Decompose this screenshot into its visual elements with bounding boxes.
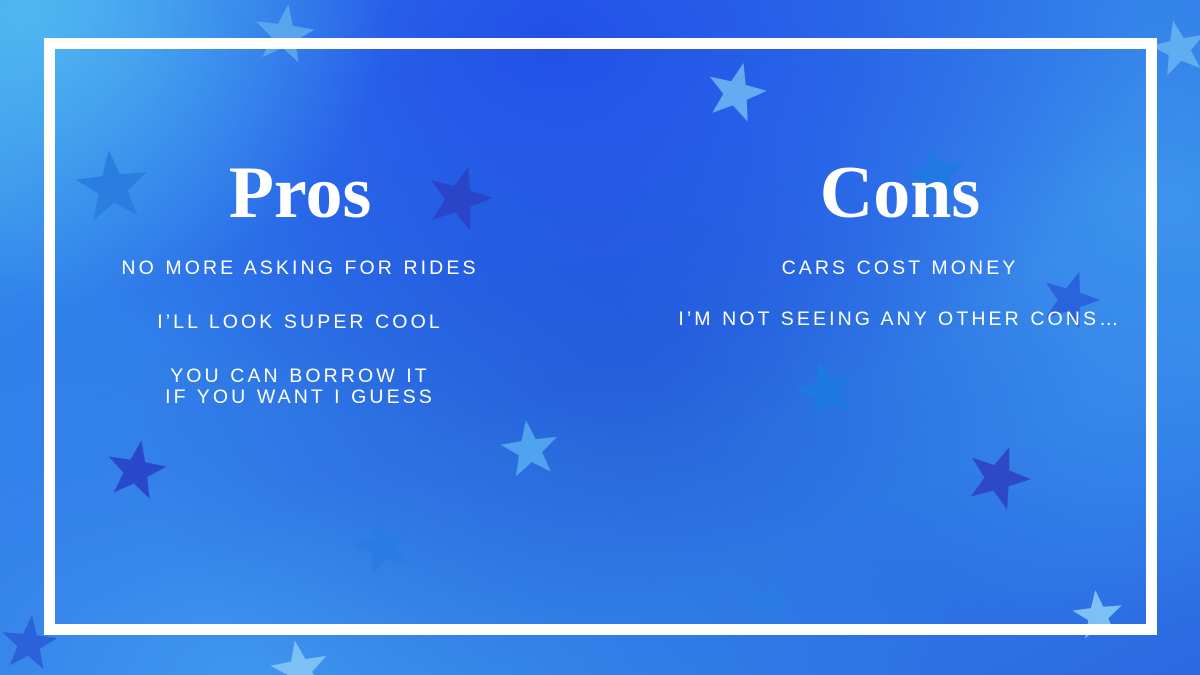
cons-item-2: I’M NOT SEEING ANY OTHER CONS…: [600, 309, 1200, 330]
pros-item-1: NO MORE ASKING FOR RIDES: [0, 258, 600, 279]
pros-heading: Pros: [0, 156, 600, 230]
slide-canvas: Pros NO MORE ASKING FOR RIDES I’LL LOOK …: [0, 0, 1200, 675]
pros-item-2: I’LL LOOK SUPER COOL: [0, 312, 600, 333]
cons-column: Cons CARS COST MONEY I’M NOT SEEING ANY …: [600, 0, 1200, 675]
pros-column: Pros NO MORE ASKING FOR RIDES I’LL LOOK …: [0, 0, 600, 675]
pros-item-list: NO MORE ASKING FOR RIDES I’LL LOOK SUPER…: [0, 258, 600, 408]
pros-item-3: YOU CAN BORROW IT IF YOU WANT I GUESS: [0, 366, 600, 408]
cons-item-1: CARS COST MONEY: [600, 258, 1200, 279]
cons-heading: Cons: [600, 156, 1200, 230]
cons-item-list: CARS COST MONEY I’M NOT SEEING ANY OTHER…: [600, 258, 1200, 360]
slide-content: Pros NO MORE ASKING FOR RIDES I’LL LOOK …: [0, 0, 1200, 675]
